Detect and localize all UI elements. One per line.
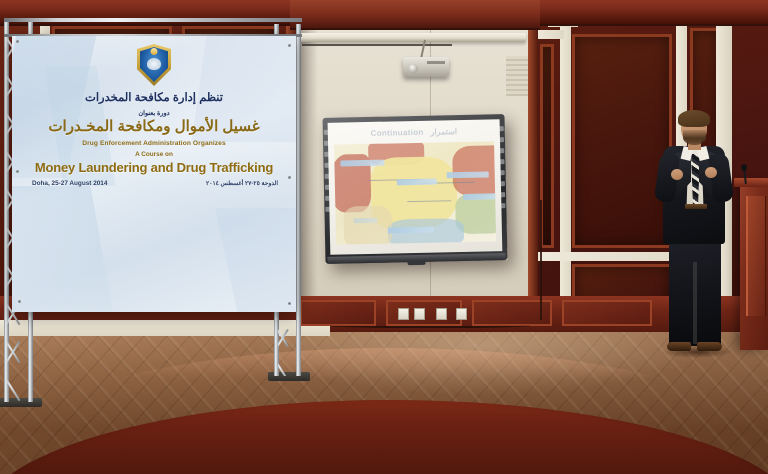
- speaker-beard: [683, 130, 706, 145]
- wall-outlet-2[interactable]: [414, 308, 425, 320]
- standing-speaker: [645, 112, 745, 360]
- speaker-left-hand: [671, 169, 683, 180]
- wall-air-vent-icon: [506, 56, 530, 96]
- banner-arabic-organizer: تنظم إدارة مكافحة المخدرات: [85, 92, 223, 106]
- banner-course-on-label: A Course on: [135, 151, 173, 158]
- wainscot-panel-4: [562, 300, 652, 326]
- banner-english-date: Doha, 25-27 August 2014: [32, 180, 107, 187]
- banner-arabic-subtitle: دورة بعنوان: [138, 109, 169, 117]
- speaker-right-shoe: [697, 342, 722, 351]
- retracted-projection-screen: [300, 33, 526, 42]
- banner-arabic-date: الدوحة ٢٥-٢٧ أغسطس ٢٠١٤: [206, 180, 278, 187]
- banner-footer: Doha, 25-27 August 2014 الدوحة ٢٥-٢٧ أغس…: [12, 175, 296, 187]
- speaker-leg-separation: [693, 262, 697, 344]
- ceiling-projector-icon: [403, 57, 449, 77]
- slide-title: Continuation استمرار: [328, 126, 500, 139]
- speaker-hair: [678, 110, 710, 127]
- wall-outlet-4[interactable]: [456, 308, 467, 320]
- truss-top-chord: [4, 18, 302, 22]
- wall-trim-vertical-1: [560, 22, 571, 328]
- banner-arabic-title: غسيل الأموال ومكافحة المخـدرات: [48, 119, 259, 136]
- wall-outlet-3[interactable]: [436, 308, 447, 320]
- map-label-3: [447, 171, 489, 178]
- crown-molding-center: [290, 0, 540, 30]
- map-region-tan-south: [343, 205, 392, 244]
- banner-grommet-mr: [288, 176, 291, 179]
- map-label-2: [397, 179, 437, 186]
- projection-screen-bar: [302, 44, 452, 46]
- speaker-left-shoe: [667, 342, 691, 351]
- banner-grommet-bl: [18, 300, 21, 303]
- banner-grommet-tr: [288, 44, 291, 47]
- slide-map-graphic: [334, 141, 496, 244]
- map-label-5: [388, 227, 434, 234]
- map-region-red-east: [452, 145, 496, 196]
- banner-english-title: Money Laundering and Drug Trafficking: [35, 161, 273, 175]
- event-banner: تنظم إدارة مكافحة المخدرات دورة بعنوان غ…: [12, 36, 296, 312]
- banner-grommet-ml: [16, 170, 19, 173]
- lectern-front-panel: [746, 196, 766, 316]
- whiteboard-tray-bracket: [408, 261, 426, 265]
- map-label-6: [354, 218, 378, 224]
- alcove-beam-right: [528, 22, 538, 326]
- projector-brand-label: [427, 61, 445, 64]
- speaker-belt: [685, 204, 707, 209]
- speaker-right-hand: [705, 167, 717, 178]
- map-label-1: [340, 160, 384, 167]
- wall-trim-stepped-1: [536, 30, 564, 39]
- emblem-crest-icon: [151, 48, 158, 55]
- police-shield-emblem-icon: [137, 44, 171, 86]
- slide-title-en: Continuation: [371, 128, 424, 138]
- interactive-whiteboard[interactable]: Continuation استمرار: [322, 114, 507, 264]
- wall-outlet-1[interactable]: [398, 308, 409, 320]
- map-label-4: [463, 193, 496, 200]
- wall-cable-drop: [540, 200, 544, 320]
- banner-english-organizer: Drug Enforcement Administration Organize…: [82, 140, 225, 147]
- lectern-top-surface: [734, 178, 768, 187]
- slide-title-ar: استمرار: [430, 127, 457, 137]
- projected-slide: Continuation استمرار: [328, 119, 503, 255]
- conference-room-scene: Continuation استمرار: [0, 0, 768, 474]
- whiteboard-display-surface[interactable]: Continuation استمرار: [328, 119, 503, 255]
- floor-cable: [330, 322, 530, 328]
- banner-content: تنظم إدارة مكافحة المخدرات دورة بعنوان غ…: [12, 36, 296, 312]
- banner-grommet-br: [288, 302, 291, 305]
- banner-grommet-tl: [16, 40, 19, 43]
- emblem-center-device: [147, 58, 161, 70]
